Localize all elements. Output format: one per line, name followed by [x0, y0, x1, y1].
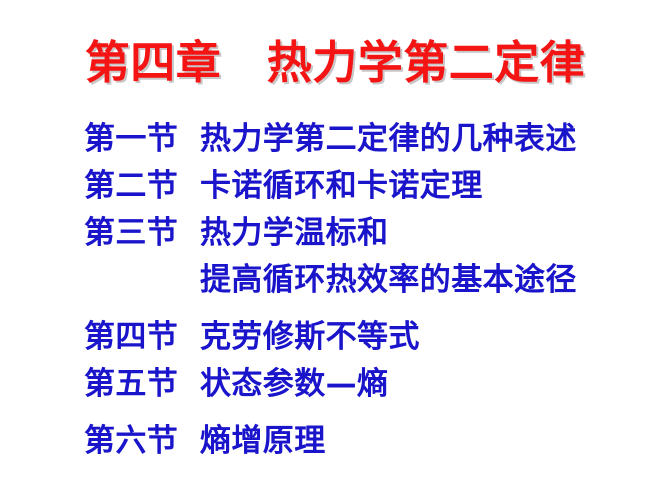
toc-section-title: 克劳修斯不等式: [200, 322, 644, 353]
toc-section-title: 热力学第二定律的几种表述: [200, 124, 644, 155]
toc-entry-1[interactable]: 第一节 热力学第二定律的几种表述: [84, 124, 644, 171]
toc-section-title-continued: 提高循环热效率的基本途径: [200, 265, 644, 296]
toc-section-label: 第六节: [84, 426, 200, 457]
presentation-slide: 第四章 热力学第二定律 第一节 热力学第二定律的几种表述 第二节 卡诺循环和卡诺…: [0, 0, 670, 503]
toc-section-label: 第四节: [84, 322, 200, 353]
toc-entry-6[interactable]: 第六节 熵增原理: [84, 426, 644, 473]
page-title: 第四章 热力学第二定律: [0, 38, 670, 88]
toc-section-title: 熵增原理: [200, 426, 644, 457]
toc-entry-5[interactable]: 第五节 状态参数—熵: [84, 369, 644, 416]
toc-section-title: 状态参数—熵: [200, 369, 644, 400]
toc-section-label: 第三节: [84, 218, 200, 249]
toc-entry-3[interactable]: 第三节 热力学温标和: [84, 218, 644, 265]
toc-section-label: 第五节: [84, 369, 200, 400]
toc-entry-4[interactable]: 第四节 克劳修斯不等式: [84, 322, 644, 369]
toc-entry-3-continuation[interactable]: 第三节 提高循环热效率的基本途径: [84, 265, 644, 312]
toc-entry-2[interactable]: 第二节 卡诺循环和卡诺定理: [84, 171, 644, 218]
toc-section-label: 第二节: [84, 171, 200, 202]
toc-section-title: 热力学温标和: [200, 218, 644, 249]
table-of-contents: 第一节 热力学第二定律的几种表述 第二节 卡诺循环和卡诺定理 第三节 热力学温标…: [84, 124, 644, 473]
toc-section-label: 第一节: [84, 124, 200, 155]
toc-section-title: 卡诺循环和卡诺定理: [200, 171, 644, 202]
